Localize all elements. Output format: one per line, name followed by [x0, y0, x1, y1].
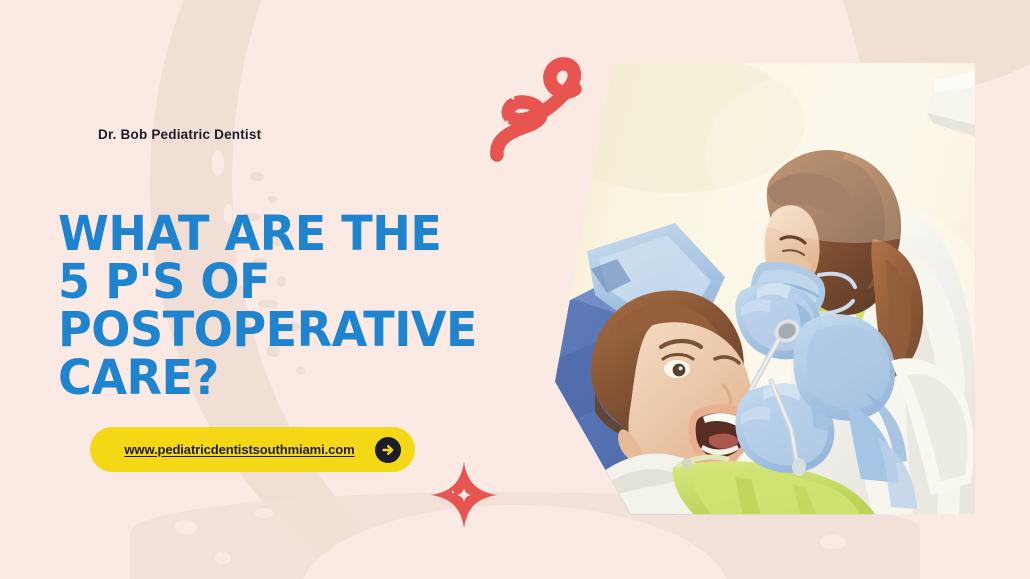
- texture-speck: [215, 552, 231, 564]
- arrow-right-icon[interactable]: [375, 437, 401, 463]
- texture-speck: [175, 520, 197, 534]
- texture-speck: [820, 535, 846, 549]
- website-cta-button[interactable]: www.pediatricdentistsouthmiami.com: [90, 427, 415, 472]
- poster-canvas: Dr. Bob Pediatric Dentist What Are The 5…: [0, 0, 1030, 579]
- texture-brush-bottom-cutout: [300, 505, 730, 579]
- website-url-link[interactable]: www.pediatricdentistsouthmiami.com: [90, 442, 375, 457]
- texture-speck: [255, 508, 273, 518]
- texture-speck: [212, 150, 224, 176]
- headline-line-4: Care?: [58, 354, 471, 402]
- brand-eyebrow: Dr. Bob Pediatric Dentist: [98, 127, 261, 142]
- texture-speck: [268, 196, 277, 203]
- headline-line-3: Postoperative: [58, 306, 471, 354]
- headline-line-2: 5 P's Of: [58, 258, 471, 306]
- four-point-sparkle-icon: [428, 459, 500, 531]
- pediatric-dental-exam-photo: [555, 63, 975, 516]
- squiggle-loop-icon: [483, 52, 589, 170]
- page-title: What Are The 5 P's Of Postoperative Care…: [58, 210, 471, 402]
- headline-line-1: What Are The: [58, 210, 471, 258]
- texture-speck: [250, 172, 264, 181]
